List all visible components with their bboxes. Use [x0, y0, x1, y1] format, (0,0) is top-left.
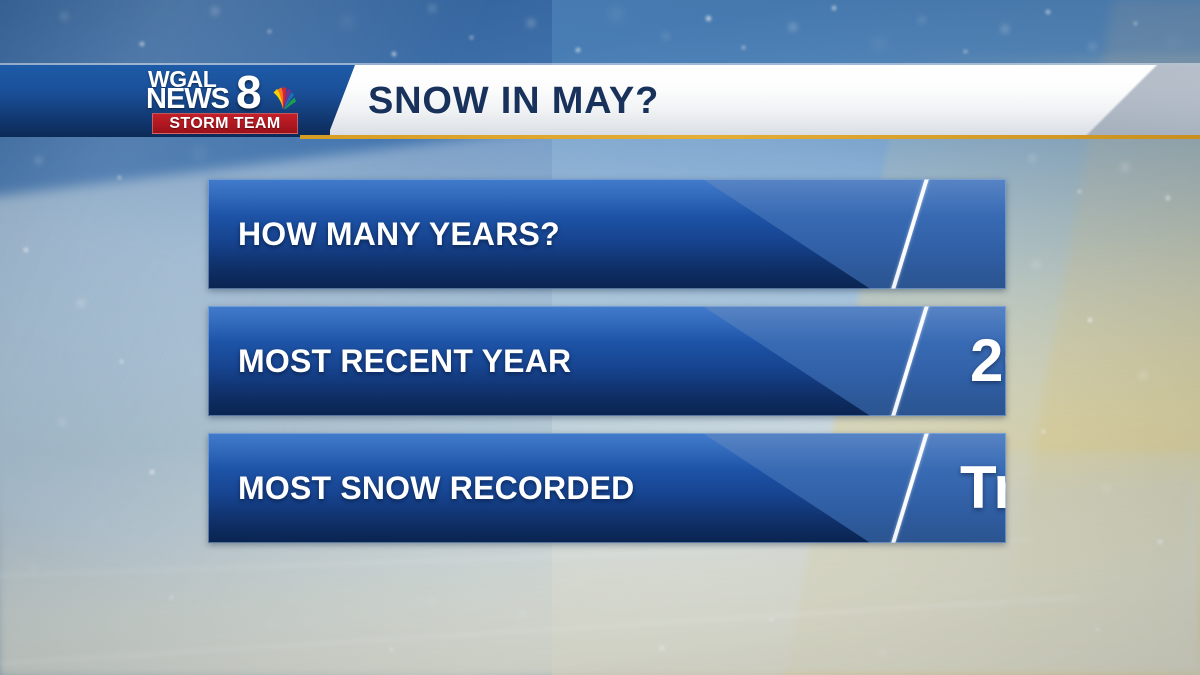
stat-rows: HOW MANY YEARS?11MOST RECENT YEAR2013MOS… [208, 179, 1006, 560]
storm-team-banner: STORM TEAM [152, 113, 298, 134]
stat-row-label: MOST SNOW RECORDED [238, 433, 635, 543]
stat-row-label: MOST RECENT YEAR [238, 306, 571, 416]
stat-row: MOST SNOW RECORDEDTrace [208, 433, 1006, 543]
logo-channel-number: 8 [236, 69, 262, 115]
nbc-peacock-icon [268, 84, 298, 112]
logo-news-word: NEWS [146, 85, 229, 114]
stat-row: MOST RECENT YEAR2013 [208, 306, 1006, 416]
station-logo: WGAL NEWS 8 STORM TEAM [148, 68, 308, 134]
page-title: SNOW IN MAY? [368, 65, 659, 137]
stat-row-value: Trace [960, 433, 1006, 543]
stat-row-value: 2013 [970, 306, 1006, 416]
title-bar-right-shade [1070, 65, 1200, 137]
weather-graphic-stage: SNOW IN MAY? WGAL NEWS 8 STORM TEAM HOW … [0, 0, 1200, 675]
stat-row: HOW MANY YEARS?11 [208, 179, 1006, 289]
stat-row-label: HOW MANY YEARS? [238, 179, 560, 289]
